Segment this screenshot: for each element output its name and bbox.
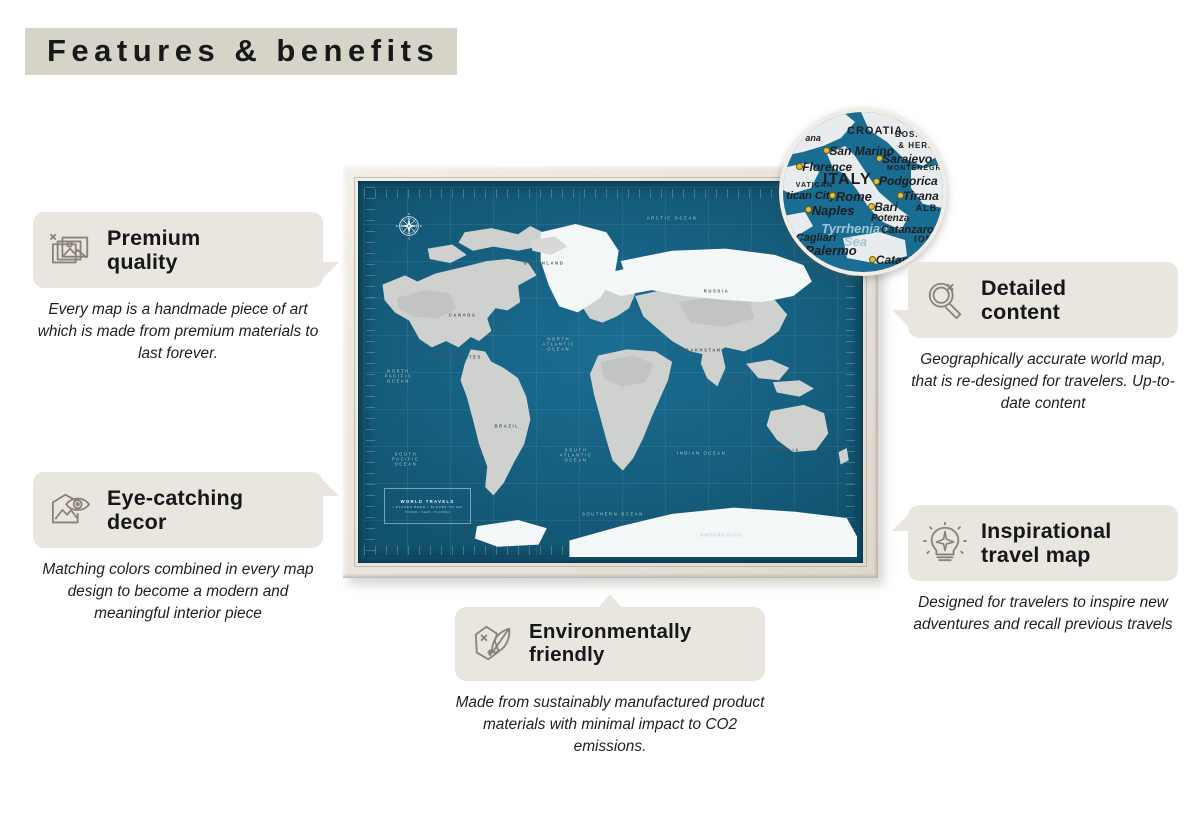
page-title-band: Features & benefits (25, 28, 457, 75)
callout-description: Designed for travelers to inspire new ad… (908, 592, 1178, 636)
callout-heading: Detailed content (981, 276, 1066, 324)
map-label: SOUTH ATLANTIC OCEAN (553, 448, 599, 463)
map-label: CHINA (728, 379, 749, 384)
loupe-place-label: Rome (836, 189, 872, 204)
capital-marker-icon (796, 163, 803, 170)
plate-legend: PINNED • SEEN • PLANNED (405, 511, 450, 514)
loupe-place-label: Cagliari (796, 232, 836, 244)
callout-bubble: Inspirational travel map (908, 505, 1178, 581)
loupe-place-label: Podgorica (879, 174, 938, 188)
callout-heading: Premium quality (107, 226, 200, 274)
bubble-tail (317, 474, 339, 496)
loupe-place-label: ION (914, 234, 933, 244)
lightbulb-plane-icon (922, 522, 968, 564)
capital-marker-icon (897, 192, 904, 199)
loupe-place-label: tican City (786, 190, 836, 202)
loupe-place-label: Palermo (805, 243, 856, 258)
plate-title: WORLD TRAVELS (400, 499, 454, 504)
callout-heading: Eye-catching decor (107, 486, 243, 534)
callout-environmentally-friendly: Environmentally friendly Made from susta… (455, 607, 765, 758)
callout-heading-line1: Detailed (981, 276, 1066, 300)
map-label: GREENLAND (523, 260, 564, 265)
photos-stack-icon (48, 229, 94, 271)
map-label: UNITED STATES (428, 355, 481, 360)
callout-heading: Environmentally friendly (529, 621, 692, 667)
loupe-place-label: VATICAN (796, 182, 833, 189)
loupe-place-label: ana (805, 133, 821, 143)
magnifier-icon (922, 279, 968, 321)
map-label: NORTH PACIFIC OCEAN (376, 368, 422, 383)
map-label: SOUTHERN OCEAN (582, 512, 644, 517)
callout-heading-line1: Premium (107, 226, 200, 250)
map-label: NORTH ATLANTIC OCEAN (536, 337, 582, 352)
bubble-tail (598, 594, 622, 608)
capital-marker-icon (873, 178, 880, 185)
callout-heading-line2: decor (107, 510, 243, 534)
map-label: AUSTRALIA (761, 447, 800, 452)
callout-eye-catching-decor: Eye-catching decor Matching colors combi… (33, 472, 323, 625)
infographic-stage: Features & benefits (0, 0, 1200, 840)
loupe-place-label: Naples (812, 203, 855, 218)
callout-bubble: Premium quality (33, 212, 323, 288)
callout-heading-line1: Inspirational (981, 519, 1111, 543)
callout-description: Every map is a handmade piece of art whi… (33, 299, 323, 365)
map-label: BRAZIL (494, 423, 519, 428)
callout-detailed-content: Detailed content Geographically accurate… (908, 262, 1178, 415)
bubble-tail (892, 509, 914, 531)
callout-heading-line1: Eye-catching (107, 486, 243, 510)
svg-text:S: S (408, 237, 410, 241)
loupe-place-label: Tirana (903, 189, 939, 203)
map-label: CANADA (449, 312, 477, 317)
callout-heading-line1: Environmentally (529, 621, 692, 644)
magnifier-loupe-italy: CROATIAanaBOS.& HER.San MarinoSarajevoFl… (779, 108, 947, 276)
callout-inspirational-travel-map: Inspirational travel map Designed for tr… (908, 505, 1178, 636)
callout-description: Made from sustainably manufactured produ… (455, 692, 765, 758)
callout-premium-quality: Premium quality Every map is a handmade … (33, 212, 323, 365)
map-label: ARCTIC OCEAN (647, 216, 698, 221)
callout-bubble: Environmentally friendly (455, 607, 765, 681)
eye-photo-icon (48, 489, 94, 531)
compass-rose-icon: N E S W (394, 211, 424, 241)
svg-text:E: E (420, 224, 422, 228)
capital-marker-icon (876, 155, 883, 162)
bubble-tail (317, 262, 339, 284)
plate-subtitle: • PLACES BEEN • PLACES TO GO (392, 505, 462, 509)
capital-marker-icon (868, 203, 875, 210)
loupe-place-label: & HER. (898, 141, 931, 150)
loupe-place-label: MONTENEGRO (887, 165, 947, 172)
map-label: INDIAN OCEAN (677, 451, 726, 456)
callout-heading-line2: friendly (529, 644, 692, 667)
leaf-page-icon (470, 623, 516, 665)
bubble-tail (892, 310, 914, 332)
map-label: KAZAKHSTAN (677, 347, 722, 352)
callout-heading-line2: quality (107, 250, 200, 274)
callout-heading-line2: content (981, 300, 1066, 324)
page-title: Features & benefits (47, 35, 439, 66)
loupe-place-label: ALB. (916, 203, 941, 213)
callout-heading: Inspirational travel map (981, 519, 1111, 567)
callout-bubble: Detailed content (908, 262, 1178, 338)
svg-text:N: N (408, 212, 410, 216)
map-label: RUSSIA (704, 288, 729, 293)
callout-description: Matching colors combined in every map de… (33, 559, 323, 625)
loupe-place-label: BOS. (895, 130, 919, 139)
map-label: SOUTH PACIFIC OCEAN (383, 451, 429, 466)
svg-text:W: W (396, 224, 399, 228)
map-title-plate: WORLD TRAVELS • PLACES BEEN • PLACES TO … (384, 488, 471, 524)
callout-bubble: Eye-catching decor (33, 472, 323, 548)
callout-description: Geographically accurate world map, that … (908, 349, 1178, 415)
map-label: ANTARCTICA (700, 532, 742, 537)
callout-heading-line2: travel map (981, 543, 1111, 567)
